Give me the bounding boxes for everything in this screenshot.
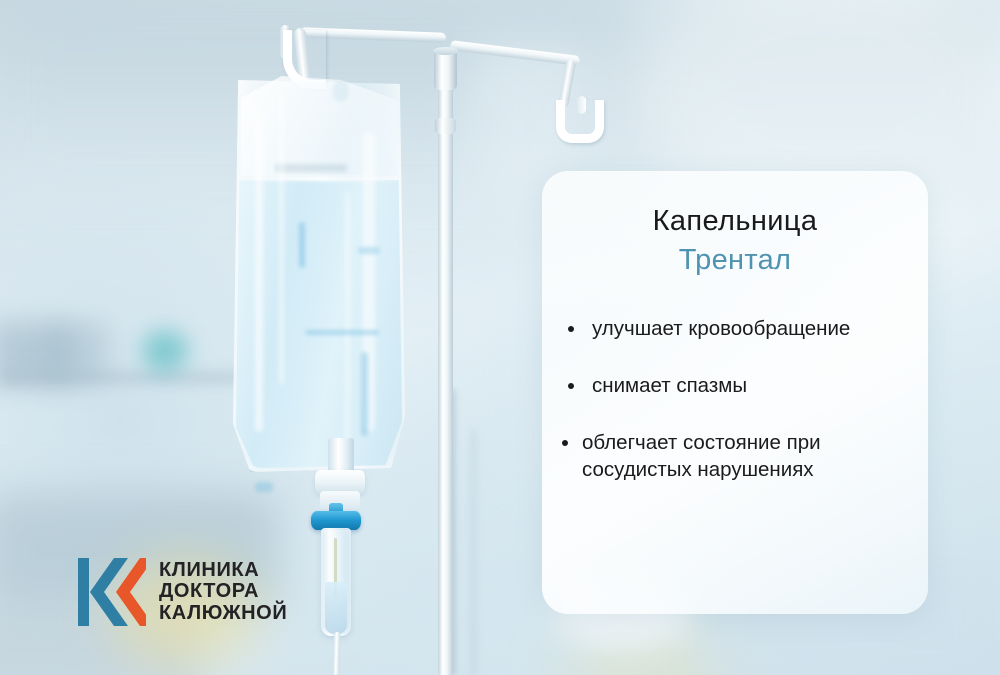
iv-pole-collar-lower: [435, 118, 456, 134]
info-card: Капельница Трентал улучшает кровообращен…: [542, 171, 928, 614]
logo-line-2: ДОКТОРА: [159, 581, 287, 603]
bullet-dot-icon: [568, 383, 574, 389]
kk-monogram-icon: [78, 556, 146, 628]
iv-pole-collar-top: [433, 47, 458, 55]
iv-pole-collar: [434, 50, 457, 90]
iv-drip-chamber-fluid: [325, 582, 347, 634]
benefit-text: улучшает кровообращение: [592, 317, 850, 340]
benefit-item: улучшает кровообращение: [568, 315, 902, 342]
logo-line-1: КЛИНИКА: [159, 560, 287, 582]
iv-bag-blue-marking: [361, 352, 368, 436]
info-card-content: Капельница Трентал улучшает кровообращен…: [542, 171, 928, 614]
iv-bag-highlight: [255, 112, 263, 432]
iv-bag-hanger-hole: [333, 80, 349, 102]
bullet-dot-icon: [568, 326, 574, 332]
card-subtitle-drug-name: Трентал: [568, 244, 902, 276]
benefit-item: облегчает состояние при сосудистых наруш…: [568, 429, 902, 483]
iv-fluid-bag: [233, 72, 405, 472]
logo-line-3: КАЛЮЖНОЙ: [159, 603, 287, 625]
card-title: Капельница: [568, 205, 902, 237]
background-teal-accent: [142, 330, 188, 372]
iv-bag-highlight: [279, 94, 284, 384]
iv-bag-label: [275, 164, 347, 172]
background-shelf: [0, 372, 260, 383]
iv-pole: [438, 52, 453, 675]
benefit-text: облегчает состояние при сосудистых наруш…: [582, 431, 821, 481]
iv-bag-highlight: [345, 192, 350, 442]
iv-bag-blue-marking: [299, 222, 305, 268]
poster-canvas: Капельница Трентал улучшает кровообращен…: [0, 0, 1000, 675]
logo-wordmark: КЛИНИКА ДОКТОРА КАЛЮЖНОЙ: [159, 560, 287, 625]
iv-bag-blue-marking: [255, 482, 273, 492]
benefit-text: снимает спазмы: [592, 374, 747, 397]
background-divider-2: [470, 430, 477, 675]
iv-bag-blue-marking: [305, 330, 379, 335]
iv-hook-right-tip: [577, 96, 586, 114]
benefit-item: снимает спазмы: [568, 372, 902, 399]
clinic-logo[interactable]: КЛИНИКА ДОКТОРА КАЛЮЖНОЙ: [78, 556, 287, 628]
iv-bag-outlet-port: [328, 438, 354, 474]
bullet-dot-icon: [562, 440, 568, 446]
iv-bag-blue-marking: [358, 247, 380, 254]
iv-tubing: [332, 632, 340, 675]
benefits-list: улучшает кровообращение снимает спазмы о…: [568, 315, 902, 483]
